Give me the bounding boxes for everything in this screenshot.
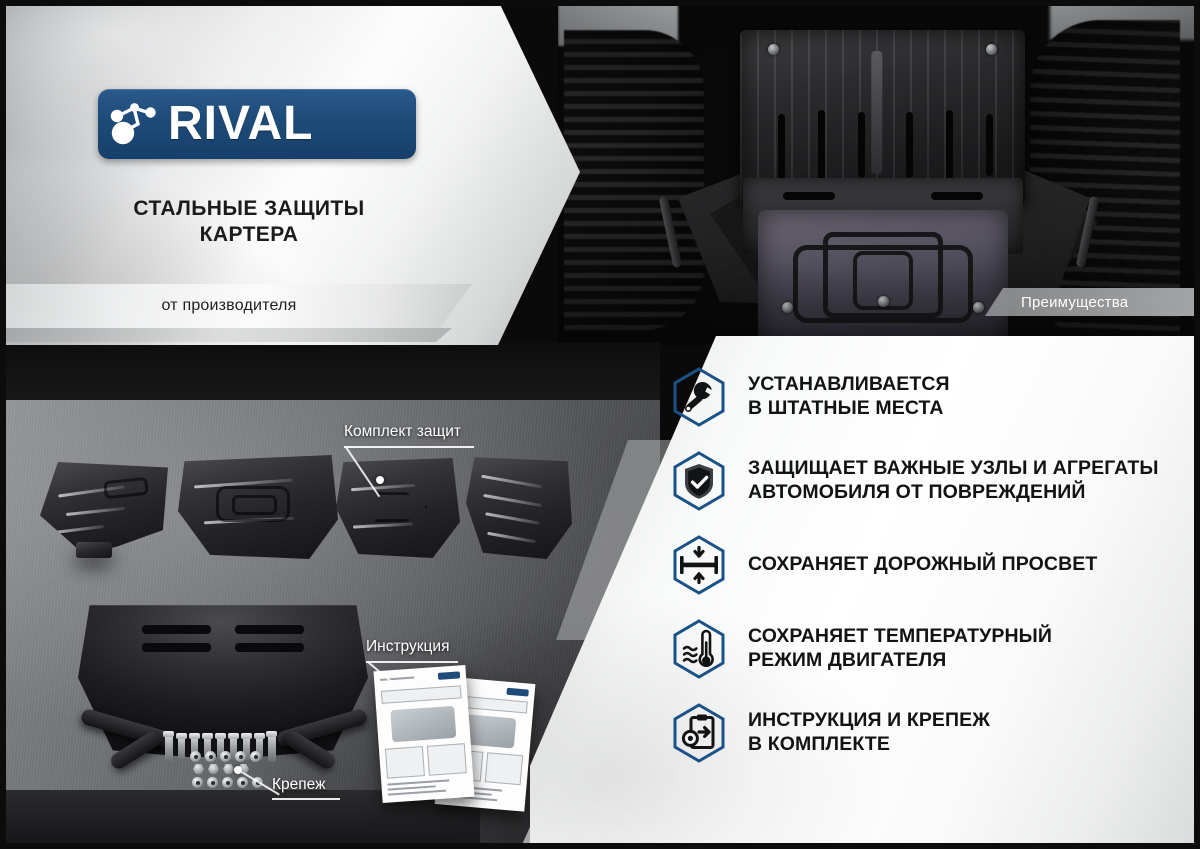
subtitle-bar: от производителя (0, 284, 472, 328)
benefit-item: СОХРАНЯЕТ ДОРОЖНЫЙ ПРОСВЕТ (668, 534, 1200, 596)
skid-plate-2 (178, 455, 338, 559)
callout-kit-dot (376, 476, 384, 484)
molecule-icon (98, 89, 172, 159)
callout-instruction-label: Инструкция (366, 638, 449, 656)
subtitle-bar-edge (0, 328, 452, 342)
page-title: СТАЛЬНЫЕ ЗАЩИТЫ КАРТЕРА (0, 196, 498, 249)
frame-edge-right (1194, 0, 1200, 849)
benefit-text: ИНСТРУКЦИЯ И КРЕПЕЖ В КОМПЛЕКТЕ (748, 709, 990, 757)
benefit-text: ЗАЩИЩАЕТ ВАЖНЫЕ УЗЛЫ И АГРЕГАТЫ АВТОМОБИ… (748, 457, 1159, 505)
benefit-item: СОХРАНЯЕТ ТЕМПЕРАТУРНЫЙ РЕЖИМ ДВИГАТЕЛЯ (668, 618, 1200, 680)
advantages-tab: Преимущества (985, 288, 1200, 316)
benefits-list: УСТАНАВЛИВАЕТСЯ В ШТАТНЫЕ МЕСТА ЗАЩИЩАЕТ… (668, 366, 1200, 786)
rival-wordmark: RIVAL (168, 100, 313, 148)
callout-hardware-underline (272, 798, 340, 800)
thermometer-hexagon-icon (668, 618, 730, 680)
subtitle-text: от производителя (162, 297, 297, 315)
callout-hardware-dot (234, 766, 242, 774)
benefit-text: СОХРАНЯЕТ ДОРОЖНЫЙ ПРОСВЕТ (748, 553, 1097, 577)
page-title-line1: СТАЛЬНЫЕ ЗАЩИТЫ (0, 196, 498, 222)
benefit-item: УСТАНАВЛИВАЕТСЯ В ШТАТНЫЕ МЕСТА (668, 366, 1200, 428)
callout-instruction-underline (366, 661, 458, 663)
wrench-hexagon-icon (668, 366, 730, 428)
rival-logo: RIVAL (98, 89, 416, 159)
benefit-item: ИНСТРУКЦИЯ И КРЕПЕЖ В КОМПЛЕКТЕ (668, 702, 1200, 764)
poster-root: Преимущества (0, 0, 1200, 849)
frame-edge-top (0, 0, 1200, 6)
frame-edge-left (0, 0, 6, 849)
skid-plate-3 (336, 458, 460, 558)
benefit-item: ЗАЩИЩАЕТ ВАЖНЫЕ УЗЛЫ И АГРЕГАТЫ АВТОМОБИ… (668, 450, 1200, 512)
shield-check-hexagon-icon (668, 450, 730, 512)
callout-kit-underline (344, 446, 474, 448)
benefit-text: СОХРАНЯЕТ ТЕМПЕРАТУРНЫЙ РЕЖИМ ДВИГАТЕЛЯ (748, 625, 1052, 673)
page-title-line2: КАРТЕРА (0, 222, 498, 248)
skid-plate-4 (466, 455, 572, 559)
clipboard-hardware-hexagon-icon (668, 702, 730, 764)
ground-clearance-hexagon-icon (668, 534, 730, 596)
advantages-tab-label: Преимущества (1021, 294, 1128, 311)
skid-plate-1-tab (76, 542, 112, 558)
callout-kit-label: Комплект защит (344, 423, 461, 441)
benefit-text: УСТАНАВЛИВАЕТСЯ В ШТАТНЫЕ МЕСТА (748, 373, 950, 421)
mid-dark-strip (0, 342, 660, 404)
instruction-sheet-front (374, 665, 475, 803)
callout-hardware-label: Крепеж (272, 776, 325, 794)
frame-edge-bottom (0, 843, 1200, 849)
